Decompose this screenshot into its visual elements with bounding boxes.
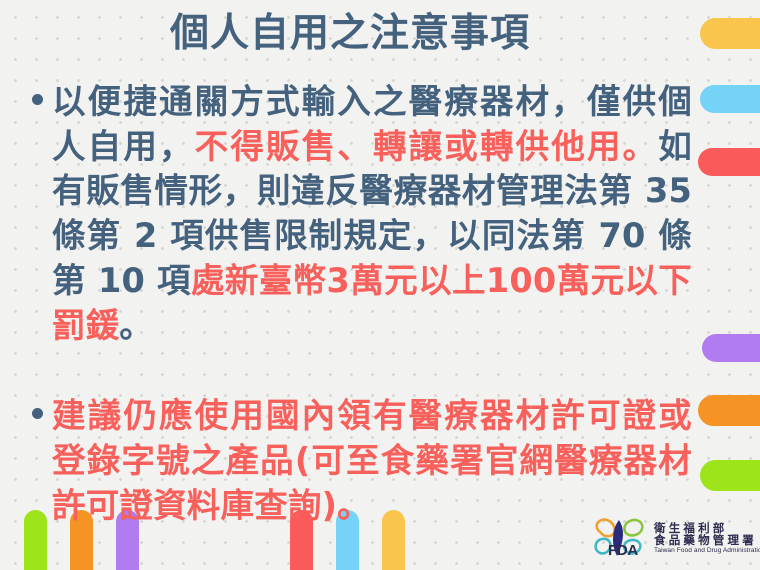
edge-bar-amber <box>700 18 760 49</box>
bullet-marker-icon-2 <box>22 394 52 419</box>
edge-bar-red <box>698 148 760 176</box>
fda-agency-text: 衛生福利部 食品藥物管理署 Taiwan Food and Drug Admin… <box>650 522 760 554</box>
slide-canvas: 個人自用之注意事項 以便捷通關方式輸入之醫療器材，僅供個人自用，不得販售、轉讓或… <box>0 0 760 570</box>
body-content: 以便捷通關方式輸入之醫療器材，僅供個人自用，不得販售、轉讓或轉供他用。如有販售情… <box>22 80 692 528</box>
bullet-item-1: 以便捷通關方式輸入之醫療器材，僅供個人自用，不得販售、轉讓或轉供他用。如有販售情… <box>22 80 692 348</box>
fda-wordmark: FDA <box>608 542 638 559</box>
fda-butterfly-mark-icon: FDA <box>592 516 650 560</box>
bullet-item-2: 建議仍應使用國內領有醫療器材許可證或登錄字號之產品(可至食藥署官網醫療器材許可證… <box>22 394 692 528</box>
edge-bar-purple <box>702 334 760 362</box>
edge-bar-lime <box>700 460 760 491</box>
text-run-red-1: 不得販售、轉讓或轉供他用。 <box>195 127 659 166</box>
bullet-text-1: 以便捷通關方式輸入之醫療器材，僅供個人自用，不得販售、轉讓或轉供他用。如有販售情… <box>52 80 692 348</box>
text-run-blue-4: 。 <box>119 306 153 345</box>
fda-english-name: Taiwan Food and Drug Administration <box>654 547 760 554</box>
page-title: 個人自用之注意事項 <box>0 11 700 57</box>
bullet-marker-icon-1 <box>22 80 52 105</box>
fda-administration-name: 食品藥物管理署 <box>654 534 760 546</box>
bullet-text-2: 建議仍應使用國內領有醫療器材許可證或登錄字號之產品(可至食藥署官網醫療器材許可證… <box>52 394 692 528</box>
edge-bar-orange <box>698 395 760 426</box>
fda-logo: FDA 衛生福利部 食品藥物管理署 Taiwan Food and Drug A… <box>592 514 754 562</box>
edge-bar-blue <box>700 85 760 113</box>
text-run-red-0: 建議仍應使用國內領有醫療器材許可證或登錄字號之產品(可至食藥署官網醫療器材許可證… <box>52 396 692 524</box>
